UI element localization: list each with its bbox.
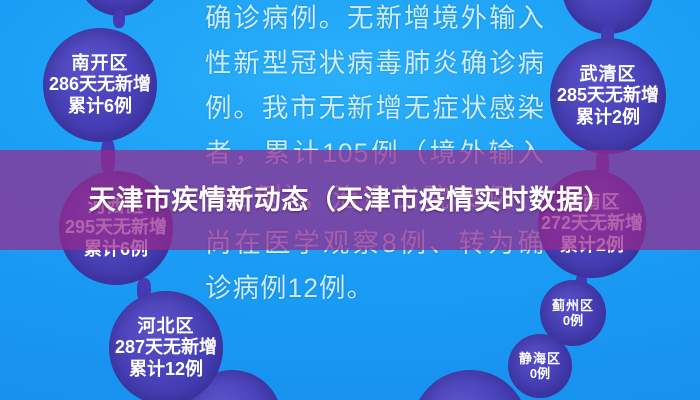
bubble-wuqing-total: 累计2例 xyxy=(576,107,640,128)
bubble-nankai-days: 286天无新增 xyxy=(49,74,151,95)
bubble-nankai-total: 累计6例 xyxy=(68,96,132,117)
bubble-hebei-total: 累计12例 xyxy=(129,359,203,380)
bubble-hebei-days: 287天无新增 xyxy=(115,337,217,358)
bubble-wuqing-district: 武清区 xyxy=(580,64,637,85)
bubble-jizhou-district: 蓟州区 xyxy=(552,298,594,313)
infographic-image: 确诊病例。无新增境外输入性新型冠状病毒肺炎确诊病例。我市无新增无症状感染者，累计… xyxy=(0,0,700,400)
title-banner: 天津市疾情新动态（天津市疫情实时数据） xyxy=(0,150,700,250)
bubble-jinghai-total: 0例 xyxy=(530,366,550,381)
bubble-hebei[interactable]: 河北区 287天无新增 累计12例 xyxy=(109,291,223,400)
neck-top-left xyxy=(113,10,125,28)
bubble-nankai-district: 南开区 xyxy=(72,53,129,74)
bubble-hebei-district: 河北区 xyxy=(138,316,195,337)
bubble-wuqing-days: 285天无新增 xyxy=(557,85,659,106)
bubble-jizhou-total: 0例 xyxy=(563,313,583,328)
bubble-nankai[interactable]: 南开区 286天无新增 累计6例 xyxy=(43,28,157,142)
banner-title-text: 天津市疾情新动态（天津市疫情实时数据） xyxy=(40,182,660,218)
bubble-jinghai-district: 静海区 xyxy=(519,351,561,366)
bubble-jinghai[interactable]: 静海区 0例 xyxy=(508,334,572,398)
bubble-wuqing[interactable]: 武清区 285天无新增 累计2例 xyxy=(550,38,666,154)
